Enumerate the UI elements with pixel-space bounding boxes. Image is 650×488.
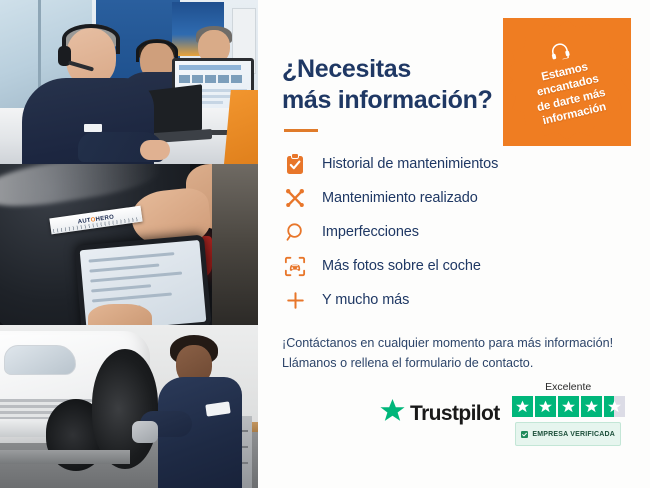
headset-icon (548, 41, 572, 67)
title-divider (284, 129, 318, 132)
verified-check-icon (521, 425, 528, 443)
photo-collage: AUTOHERO (0, 0, 258, 488)
badge-text: Estamos encantados de darte más informac… (529, 58, 610, 128)
car-frame-icon (282, 253, 308, 279)
crossed-tools-icon (282, 185, 308, 211)
contact-line-1: ¡Contáctanos en cualquier momento para m… (282, 334, 620, 354)
rating-label: Excelente (545, 381, 591, 393)
trustpilot-widget[interactable]: Trustpilot Excelente (380, 381, 625, 446)
feature-label: Más fotos sobre el coche (322, 258, 481, 274)
info-badge: Estamos encantados de darte más informac… (503, 18, 631, 146)
trustpilot-rating: Excelente (512, 381, 625, 446)
background-person (212, 164, 258, 325)
star-rating (512, 396, 625, 417)
star-1 (512, 396, 533, 417)
feature-label: Mantenimiento realizado (322, 190, 478, 206)
verified-label: EMPRESA VERIFICADA (532, 431, 615, 438)
agent-person (22, 28, 152, 164)
feature-label: Y mucho más (322, 292, 409, 308)
verified-company-badge: EMPRESA VERIFICADA (515, 422, 621, 446)
feature-label: Historial de mantenimientos (322, 156, 498, 172)
page-title: ¿Necesitas más información? (282, 54, 512, 115)
feature-list: Historial de mantenimientos M (282, 148, 620, 316)
car-lift-ramp (0, 450, 130, 464)
mechanic-glove (132, 421, 158, 443)
inspector-hand-holding-tablet (88, 304, 152, 325)
car-inspection-photo: AUTOHERO (0, 164, 258, 325)
page-title-line-1: ¿Necesitas (282, 54, 512, 85)
trustpilot-logo[interactable]: Trustpilot (380, 399, 500, 428)
feature-item-mas: Y mucho más (282, 284, 620, 316)
mechanic-workshop-photo (0, 325, 258, 488)
feature-item-mantenimiento: Mantenimiento realizado (282, 182, 620, 214)
trustpilot-wordmark: Trustpilot (410, 402, 500, 426)
clipboard-check-icon (282, 151, 308, 177)
feature-item-imperfecciones: Imperfecciones (282, 216, 620, 248)
content-panel: ¿Necesitas más información? Historial de… (258, 0, 650, 488)
feature-item-fotos: Más fotos sobre el coche (282, 250, 620, 282)
call-center-agent-photo (0, 0, 258, 164)
star-4 (581, 396, 602, 417)
star-2 (535, 396, 556, 417)
star-3 (558, 396, 579, 417)
contact-text: ¡Contáctanos en cualquier momento para m… (282, 334, 620, 373)
trustpilot-star-icon (380, 399, 405, 428)
feature-item-historial: Historial de mantenimientos (282, 148, 620, 180)
plus-icon (282, 287, 308, 313)
feature-label: Imperfecciones (322, 224, 419, 240)
contact-line-2: Llámanos o rellena el formulario de cont… (282, 354, 620, 374)
promo-card: AUTOHERO (0, 0, 650, 488)
ruler-brand-text: AUTOHERO (77, 214, 114, 225)
star-5-half (604, 396, 625, 417)
magnifier-icon (282, 219, 308, 245)
page-title-line-2: más información? (282, 85, 512, 116)
